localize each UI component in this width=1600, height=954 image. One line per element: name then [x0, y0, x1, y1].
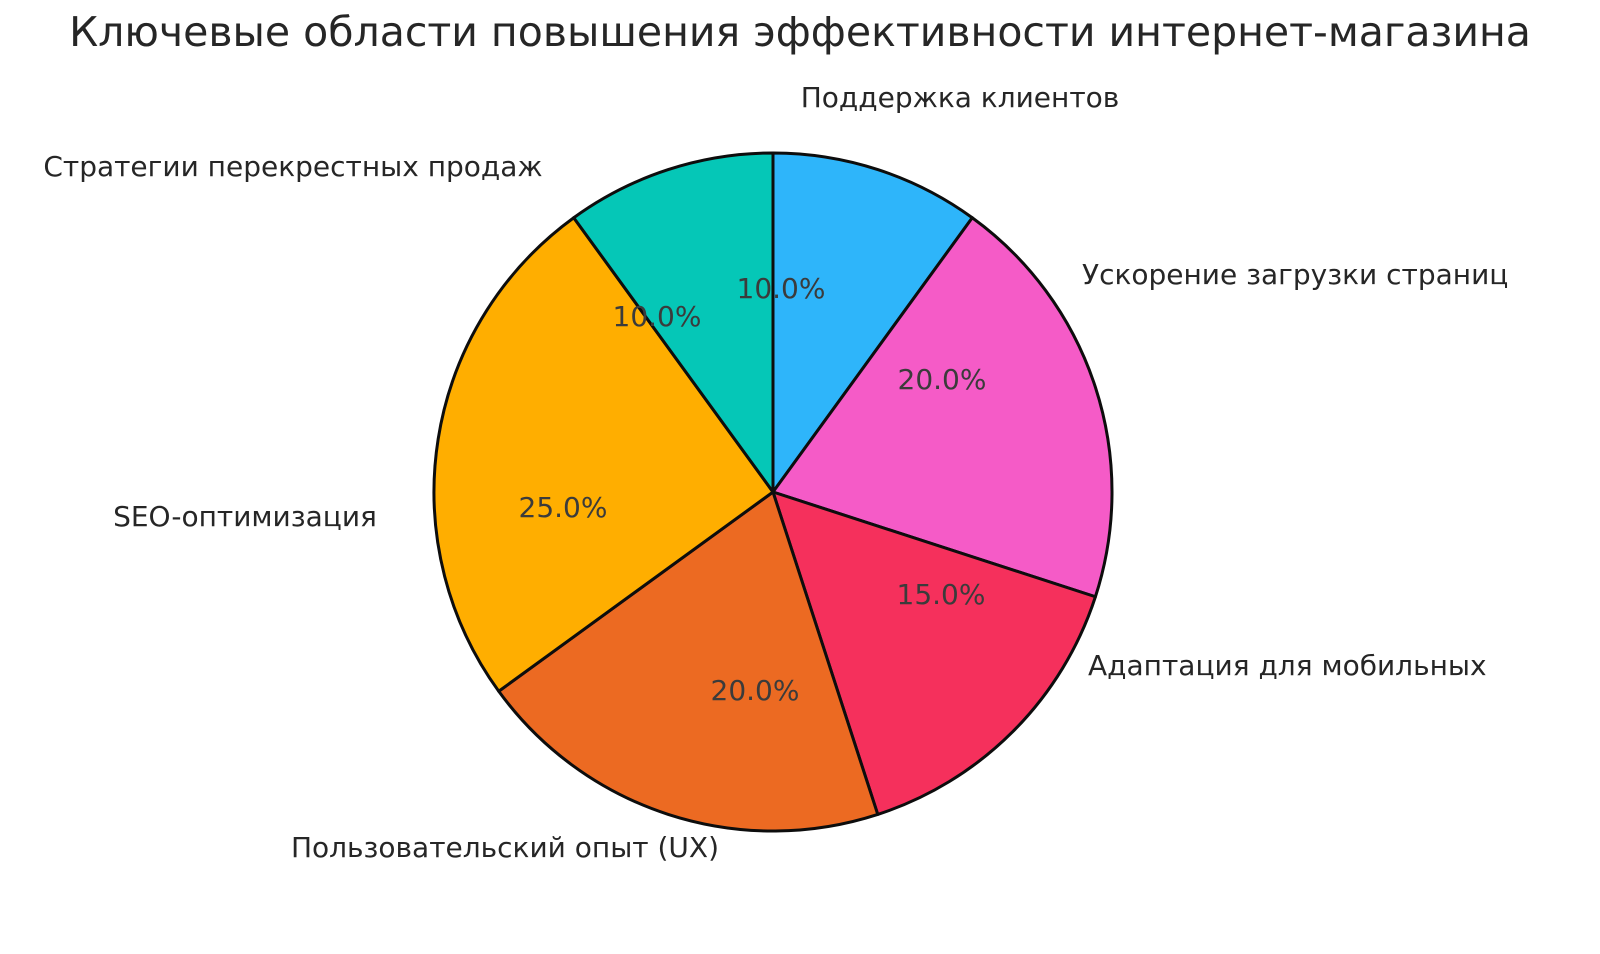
pie-slice-category-label: Поддержка клиентов [0, 83, 1600, 114]
pie-slice-category-label: Адаптация для мобильных [1088, 651, 1487, 682]
pie-slice-percent-label: 20.0% [898, 363, 987, 396]
pie-slice-percent-label: 20.0% [711, 674, 800, 707]
pie-slice-category-label: Стратегии перекрестных продаж [0, 152, 586, 183]
pie-slice-category-label: Пользовательский опыт (UX) [0, 833, 1010, 864]
pie-chart-figure: Ключевые области повышения эффективности… [0, 0, 1600, 954]
pie-slice-category-label: Ускорение загрузки страниц [1082, 260, 1508, 291]
pie-slice-percent-label: 10.0% [613, 300, 702, 333]
pie-slice-category-label: SEO-оптимизация [0, 502, 490, 533]
pie-slice-percent-label: 15.0% [897, 578, 986, 611]
pie-slice-percent-label: 10.0% [737, 272, 826, 305]
pie-slice-percent-label: 25.0% [519, 491, 608, 524]
pie-chart-canvas: 10.0%20.0%15.0%20.0%25.0%10.0% [0, 0, 1600, 954]
